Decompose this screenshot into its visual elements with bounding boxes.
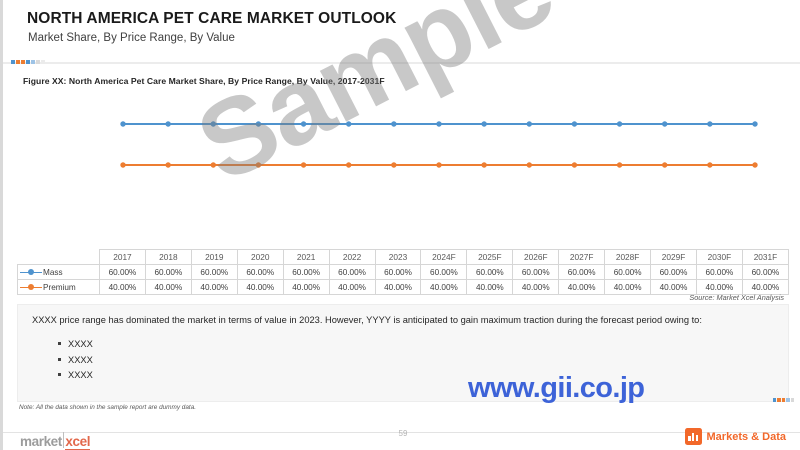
table-cell: 40.00% [513,280,559,295]
data-table: 20172018201920202021202220232024F2025F20… [17,249,789,295]
line-chart [17,96,787,246]
list-item: XXXX [58,337,788,352]
legend-label: Mass [43,268,63,277]
table-row-legend: Premium [18,280,100,295]
table-cell: 40.00% [375,280,421,295]
table-cell: 60.00% [605,265,651,280]
table-cell: 40.00% [559,280,605,295]
table-col-header: 2025F [467,250,513,265]
data-point [301,162,306,167]
table-col-header: 2021 [283,250,329,265]
bar-chart-icon [685,428,702,445]
table-cell: 40.00% [237,280,283,295]
source-note: Source: Market Xcel Analysis [689,293,784,302]
table-cell: 40.00% [467,280,513,295]
data-point [481,121,486,126]
dot-3 [21,60,25,64]
table-col-header: 2017 [100,250,146,265]
legend-label: Premium [43,283,76,292]
data-point [346,121,351,126]
table-cell: 60.00% [237,265,283,280]
dot-7 [41,60,45,64]
table-col-header: 2024F [421,250,467,265]
data-point [527,121,532,126]
data-point [572,162,577,167]
data-point [527,162,532,167]
dot-4 [26,60,30,64]
chart-canvas [17,96,787,246]
data-point [572,121,577,126]
table-cell: 60.00% [145,265,191,280]
table-col-header: 2029F [651,250,697,265]
table-col-header: 2030F [696,250,742,265]
table-col-header: 2026F [513,250,559,265]
markets-and-data-text: Markets & Data [707,431,786,443]
data-point [120,121,125,126]
data-point [752,121,757,126]
table-row: Premium40.00%40.00%40.00%40.00%40.00%40.… [18,280,789,295]
data-point [662,162,667,167]
data-point [301,121,306,126]
legend-marker-icon [20,268,42,277]
data-point [481,162,486,167]
slide: NORTH AMERICA PET CARE MARKET OUTLOOK Ma… [0,0,800,450]
data-point [752,162,757,167]
data-point [617,162,622,167]
table-cell: 40.00% [283,280,329,295]
table-cell: 60.00% [283,265,329,280]
page-number: 59 [3,429,800,438]
data-point [391,162,396,167]
table-cell: 60.00% [375,265,421,280]
data-point [211,121,216,126]
page-subtitle: Market Share, By Price Range, By Value [28,32,235,44]
data-point [707,162,712,167]
table-col-header: 2031F [742,250,788,265]
decorative-dots [11,58,45,65]
table-col-header: 2022 [329,250,375,265]
table-col-header: 2019 [191,250,237,265]
table-cell: 40.00% [191,280,237,295]
data-point [165,121,170,126]
table-cell: 40.00% [329,280,375,295]
data-point [211,162,216,167]
table-cell: 60.00% [329,265,375,280]
table-cell: 60.00% [421,265,467,280]
table-cell: 60.00% [696,265,742,280]
data-point [436,121,441,126]
table-cell: 40.00% [145,280,191,295]
table-cell: 60.00% [742,265,788,280]
data-point [391,121,396,126]
table-col-header: 2018 [145,250,191,265]
dot-1 [11,60,15,64]
data-point [346,162,351,167]
table-col-header: 2020 [237,250,283,265]
site-watermark: www.gii.co.jp [468,372,644,405]
data-point [256,121,261,126]
header-divider [3,62,800,64]
data-point [617,121,622,126]
data-point [707,121,712,126]
site-watermark-dots [773,398,795,402]
table-col-header: 2028F [605,250,651,265]
table-cell: 60.00% [467,265,513,280]
list-item: XXXX [58,353,788,368]
list-item: XXXX [58,368,788,383]
table-cell: 60.00% [513,265,559,280]
table-row: Mass60.00%60.00%60.00%60.00%60.00%60.00%… [18,265,789,280]
data-point [256,162,261,167]
dot-5 [31,60,35,64]
insight-panel: XXXX price range has dominated the marke… [17,304,789,402]
table-cell: 60.00% [559,265,605,280]
table-col-header: 2023 [375,250,421,265]
insight-bullet-list: XXXXXXXXXXXX [18,337,788,382]
table-cell: 60.00% [651,265,697,280]
data-point [436,162,441,167]
table-col-header: 2027F [559,250,605,265]
dot-2 [16,60,20,64]
table-cell: 40.00% [421,280,467,295]
table-cell: 40.00% [100,280,146,295]
figure-caption: Figure XX: North America Pet Care Market… [23,76,385,86]
legend-marker-icon [20,283,42,292]
table-cell: 60.00% [100,265,146,280]
dot-6 [36,60,40,64]
data-point [662,121,667,126]
table-cell: 40.00% [605,280,651,295]
dummy-data-note: Note: All the data shown in the sample r… [19,404,196,411]
table-corner-cell [18,250,100,265]
table-body: Mass60.00%60.00%60.00%60.00%60.00%60.00%… [18,265,789,295]
data-point [120,162,125,167]
data-point [165,162,170,167]
insight-paragraph: XXXX price range has dominated the marke… [18,305,788,327]
table-cell: 60.00% [191,265,237,280]
table-row-legend: Mass [18,265,100,280]
markets-and-data-logo: Markets & Data [685,428,786,445]
page-title: NORTH AMERICA PET CARE MARKET OUTLOOK [27,10,396,28]
table-header-row: 20172018201920202021202220232024F2025F20… [18,250,789,265]
